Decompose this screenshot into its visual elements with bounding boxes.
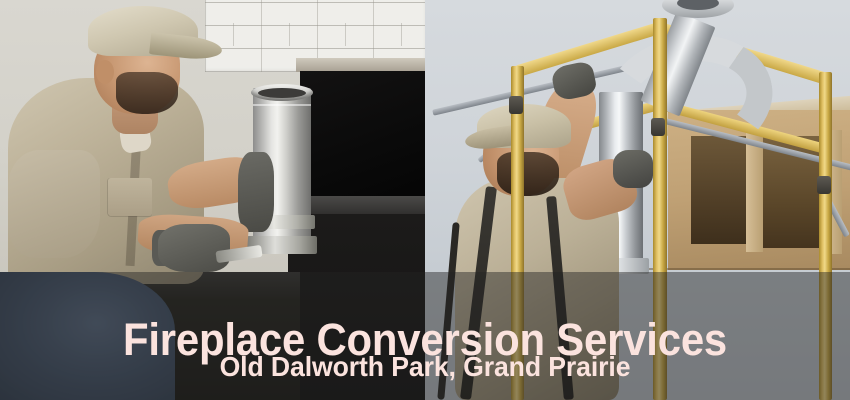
scaffold-clamp-center xyxy=(651,118,665,136)
fireplace-opening xyxy=(300,71,425,200)
location-subtitle: Old Dalworth Park, Grand Prairie xyxy=(21,350,829,384)
frame-stud-left xyxy=(746,130,763,252)
technician-beard xyxy=(116,72,178,114)
fireplace-lintel xyxy=(296,58,425,72)
shirt-pocket xyxy=(108,178,152,216)
work-glove-left xyxy=(158,224,230,272)
technician-sleeve xyxy=(8,150,100,258)
technician-ear xyxy=(96,60,114,84)
scaffold-clamp-right xyxy=(817,176,831,194)
flue-pipe-bore xyxy=(258,88,306,98)
service-banner: Fireplace Conversion Services Old Dalwor… xyxy=(0,0,850,400)
scaffold-clamp-left xyxy=(509,96,523,114)
flue-pipe-seam xyxy=(253,104,311,106)
worker-beard xyxy=(497,152,559,196)
work-glove-right xyxy=(238,152,274,232)
worker-glove-lower xyxy=(613,150,653,188)
brick-course-offset xyxy=(233,23,425,46)
